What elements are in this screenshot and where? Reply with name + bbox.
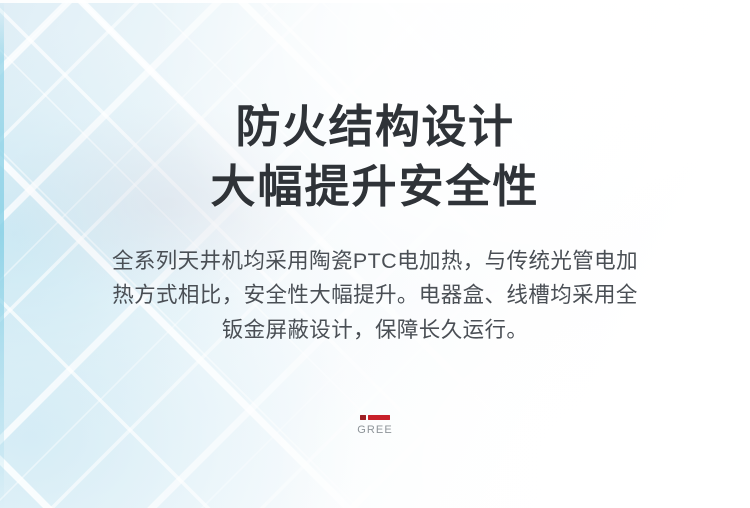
logo-dash-icon [360, 415, 366, 420]
body-paragraph: 全系列天井机均采用陶瓷PTC电加热，与传统光管电加 热方式相比，安全性大幅提升。… [55, 244, 695, 348]
paragraph-line-3: 钣金屏蔽设计，保障长久运行。 [55, 313, 695, 348]
gree-logo-mark-icon [360, 414, 390, 420]
headline: 防火结构设计 大幅提升安全性 [210, 97, 539, 218]
gree-logo: GREE [0, 414, 750, 436]
paragraph-line-1: 全系列天井机均采用陶瓷PTC电加热，与传统光管电加 [55, 244, 695, 279]
logo-bar-icon [368, 415, 390, 420]
paragraph-line-2: 热方式相比，安全性大幅提升。电器盒、线槽均采用全 [55, 278, 695, 313]
promo-banner: 防火结构设计 大幅提升安全性 全系列天井机均采用陶瓷PTC电加热，与传统光管电加… [0, 0, 750, 508]
gree-wordmark: GREE [357, 424, 393, 436]
headline-line-1: 防火结构设计 [210, 97, 539, 157]
headline-line-2: 大幅提升安全性 [210, 157, 539, 217]
